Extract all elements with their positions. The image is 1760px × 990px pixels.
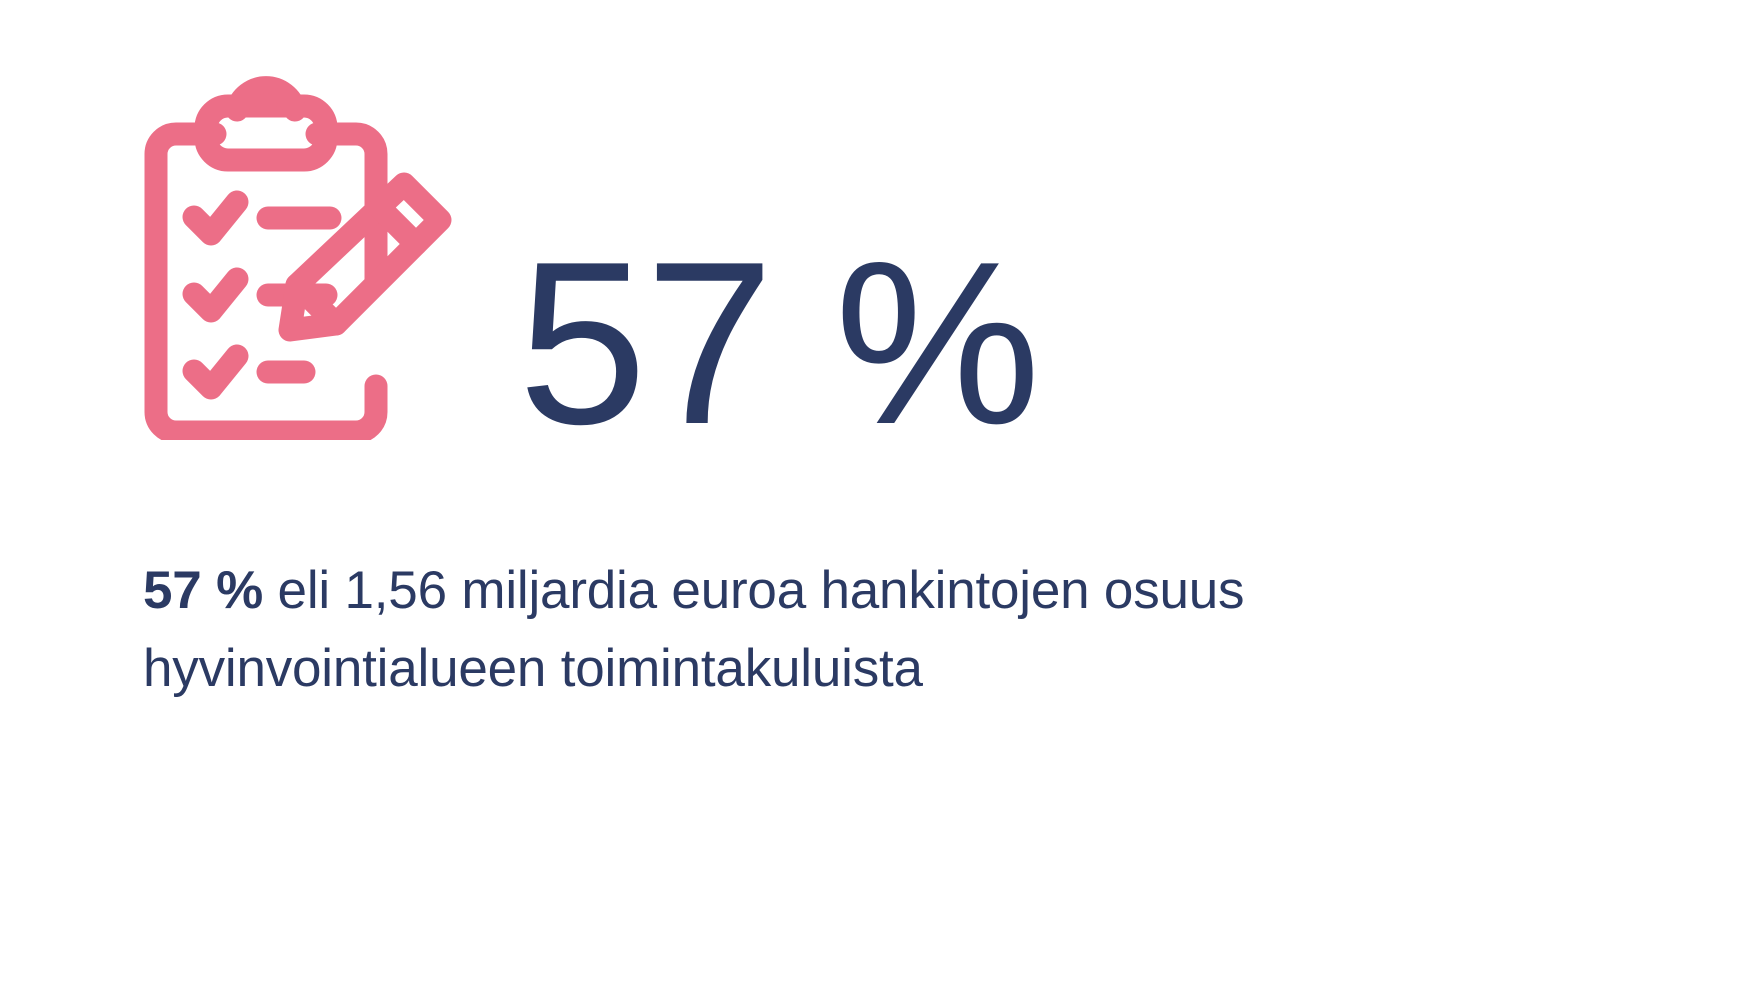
clipboard-checklist-pencil-icon — [140, 68, 470, 440]
caption-text: 57 % eli 1,56 miljardia euroa hankintoje… — [143, 552, 1323, 708]
statistic-card: 57 % 57 % eli 1,56 miljardia euroa hanki… — [0, 0, 1760, 990]
caption-rest: eli 1,56 miljardia euroa hankintojen osu… — [143, 561, 1244, 698]
caption-lead: 57 % — [143, 561, 263, 620]
headline-statistic: 57 % — [518, 228, 1039, 460]
